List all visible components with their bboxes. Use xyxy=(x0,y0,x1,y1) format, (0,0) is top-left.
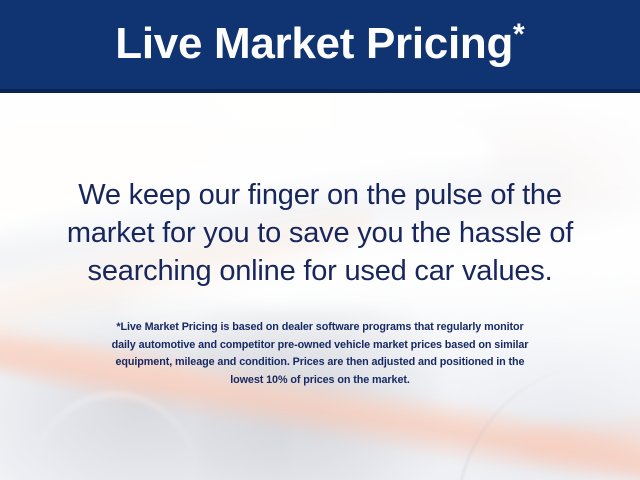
banner-title-text: Live Market Pricing xyxy=(115,19,513,68)
headline-block: We keep our finger on the pulse of the m… xyxy=(0,176,640,290)
banner-title: Live Market Pricing* xyxy=(115,20,524,69)
headline-line-1: We keep our finger on the pulse of the xyxy=(0,176,640,214)
fineprint-line-4: lowest 10% of prices on the market. xyxy=(36,372,604,390)
live-market-pricing-banner: Live Market Pricing* We keep our finger … xyxy=(0,0,640,480)
headline-line-3: searching online for used car values. xyxy=(0,252,640,290)
headline-line-2: market for you to save you the hassle of xyxy=(0,214,640,252)
banner-title-asterisk: * xyxy=(513,18,525,51)
header-banner: Live Market Pricing* xyxy=(0,0,640,93)
fineprint-line-2: daily automotive and competitor pre-owne… xyxy=(36,337,604,355)
fineprint-block: *Live Market Pricing is based on dealer … xyxy=(36,319,604,389)
fineprint-line-1: *Live Market Pricing is based on dealer … xyxy=(36,319,604,337)
fineprint-line-3: equipment, mileage and condition. Prices… xyxy=(36,354,604,372)
